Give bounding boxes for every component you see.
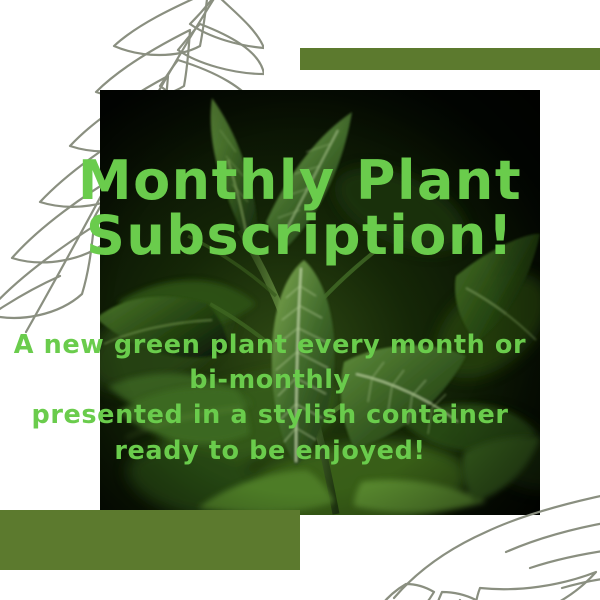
body-copy: A new green plant every month or bi-mont… xyxy=(0,328,540,469)
body-line-2: bi-monthly xyxy=(0,363,540,398)
accent-bar-top xyxy=(300,48,600,70)
headline-line-1: Monthly Plant xyxy=(78,149,522,212)
page-title: Monthly Plant Subscription! xyxy=(56,98,544,318)
body-line-3: presented in a stylish container xyxy=(0,398,540,433)
accent-bar-bottom xyxy=(0,510,300,570)
body-line-4: ready to be enjoyed! xyxy=(0,434,540,469)
poster-canvas: Monthly Plant Subscription! A new green … xyxy=(0,0,600,600)
body-line-1: A new green plant every month or xyxy=(0,328,540,363)
headline-line-2: Subscription! xyxy=(56,208,544,263)
